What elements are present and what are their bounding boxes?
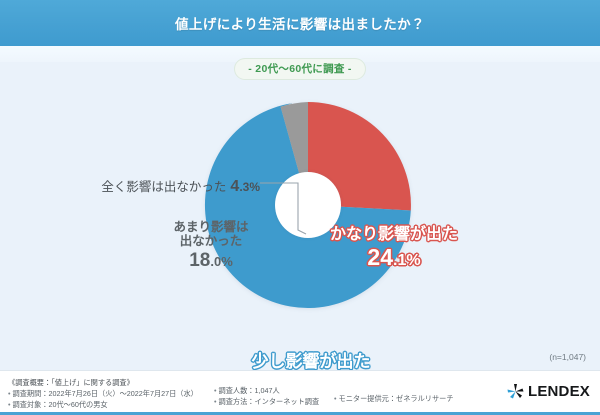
infographic-page: 値上げにより生活に影響は出ましたか？ - 20代〜60代に調査 - かなり影響が… [0,0,600,415]
survey-scope-badge: - 20代〜60代に調査 - [234,58,365,80]
footer-column-method: 調査人数：1,047人 調査方法：インターネット調査 [214,385,319,407]
footer: 《調査概要：「値上げ」に関する調査》 調査期間：2022年7月26日（火）〜20… [0,370,600,415]
footer-sample-count: 調査人数：1,047人 [214,385,319,396]
lendex-wordmark: LENDEX [528,383,590,400]
footer-column-provider: モニター提供元：ゼネラルリサーチ [334,393,454,404]
sample-size-note: (n=1,047) [549,352,586,362]
footer-overview-period: 調査期間：2022年7月26日（火）〜2022年7月27日（水） [8,388,198,399]
lendex-logo[interactable]: LENDEX [507,383,590,400]
chart-stage: かなり影響が出た 24.1% 少し影響が出た 53.6% あまり影響は 出なかっ… [0,80,600,352]
subtitle-badge-wrap: - 20代〜60代に調査 - [0,58,600,80]
slice-label-mattaku-pct: 4.3% [230,178,260,195]
slice-label-amari-pct: 18.0% [152,250,270,271]
header-banner: 値上げにより生活に影響は出ましたか？ [0,0,600,46]
footer-survey-method: 調査方法：インターネット調査 [214,396,319,407]
page-title: 値上げにより生活に影響は出ましたか？ [0,13,600,33]
footer-overview-title: 《調査概要：「値上げ」に関する調査》 [8,377,198,388]
slice-label-kanari-text: かなり影響が出た [306,226,482,244]
lendex-mark-icon [507,383,524,400]
slice-label-amari-line2: 出なかった [152,234,270,248]
slice-label-kanari-pct: 24.1% [306,245,482,271]
slice-label-mattaku-text: 全く影響は出なかった [101,180,226,194]
footer-monitor-provider: モニター提供元：ゼネラルリサーチ [334,393,454,404]
slice-label-mattaku: 全く影響は出なかった4.3% [48,176,260,196]
slice-label-sukoshi-text: 少し影響が出た [196,352,426,371]
footer-column-overview: 《調査概要：「値上げ」に関する調査》 調査期間：2022年7月26日（火）〜20… [8,377,198,410]
slice-label-amari: あまり影響は 出なかった 18.0% [152,220,270,271]
leader-line [260,178,318,238]
footer-overview-target: 調査対象：20代〜60代の男女 [8,399,198,410]
slice-label-kanari: かなり影響が出た 24.1% [306,226,482,271]
slice-label-amari-line1: あまり影響は [152,220,270,234]
